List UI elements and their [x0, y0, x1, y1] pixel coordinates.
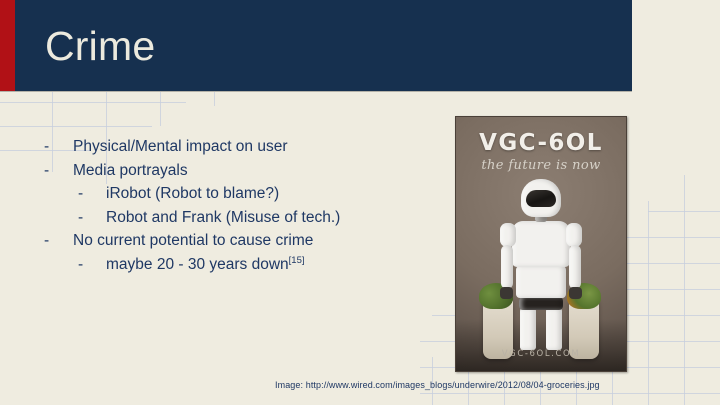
bullet-marker: - — [44, 160, 73, 183]
bullet-list: - Physical/Mental impact on user - Media… — [44, 136, 434, 277]
bullet-marker: - — [44, 136, 73, 159]
robot-arm-left — [501, 245, 513, 289]
robot-poster-image: VGC-6OL the future is now VGC-6OL.COM — [455, 116, 627, 372]
bullet-marker: - — [44, 230, 73, 253]
robot-hand-left — [500, 287, 513, 299]
robot-shoulder-left — [500, 223, 516, 247]
list-item: - Physical/Mental impact on user — [44, 136, 434, 159]
list-item: - iRobot (Robot to blame?) — [44, 183, 434, 206]
robot-hip — [519, 297, 563, 310]
list-item: - Media portrayals — [44, 160, 434, 183]
list-item: - No current potential to cause crime — [44, 230, 434, 253]
bullet-text: maybe 20 - 30 years down — [106, 256, 289, 273]
page-title: Crime — [45, 18, 155, 74]
bullet-text: iRobot (Robot to blame?) — [106, 183, 434, 206]
robot-hand-right — [569, 287, 582, 299]
slide: Crime - Physical/Mental impact on user -… — [0, 0, 720, 405]
poster-brand-text: VGC-6OL — [456, 130, 626, 156]
title-accent-bar — [0, 0, 15, 91]
bullet-text: Physical/Mental impact on user — [73, 136, 434, 159]
poster-tagline-text: the future is now — [456, 158, 626, 173]
robot-visor — [526, 190, 556, 207]
bullet-marker: - — [78, 207, 106, 230]
bullet-text: No current potential to cause crime — [73, 230, 434, 253]
title-band: Crime — [0, 0, 632, 91]
list-item: - maybe 20 - 30 years down[15] — [44, 254, 434, 277]
bullet-marker: - — [78, 183, 106, 206]
robot-abdomen — [516, 266, 566, 298]
bullet-marker: - — [78, 254, 106, 277]
image-credit-caption: Image: http://www.wired.com/images_blogs… — [275, 379, 600, 391]
bullet-text-wrap: maybe 20 - 30 years down[15] — [106, 254, 434, 277]
robot-arm-right — [569, 245, 581, 289]
robot-shoulder-right — [566, 223, 582, 247]
list-item: - Robot and Frank (Misuse of tech.) — [44, 207, 434, 230]
citation-reference: [15] — [289, 254, 305, 265]
poster-floor-shadow — [456, 319, 626, 371]
robot-leg-left — [520, 308, 536, 350]
robot-torso — [512, 221, 570, 267]
bullet-text: Media portrayals — [73, 160, 434, 183]
robot-leg-right — [546, 308, 562, 350]
bullet-text: Robot and Frank (Misuse of tech.) — [106, 207, 434, 230]
poster-url-text: VGC-6OL.COM — [456, 349, 626, 359]
